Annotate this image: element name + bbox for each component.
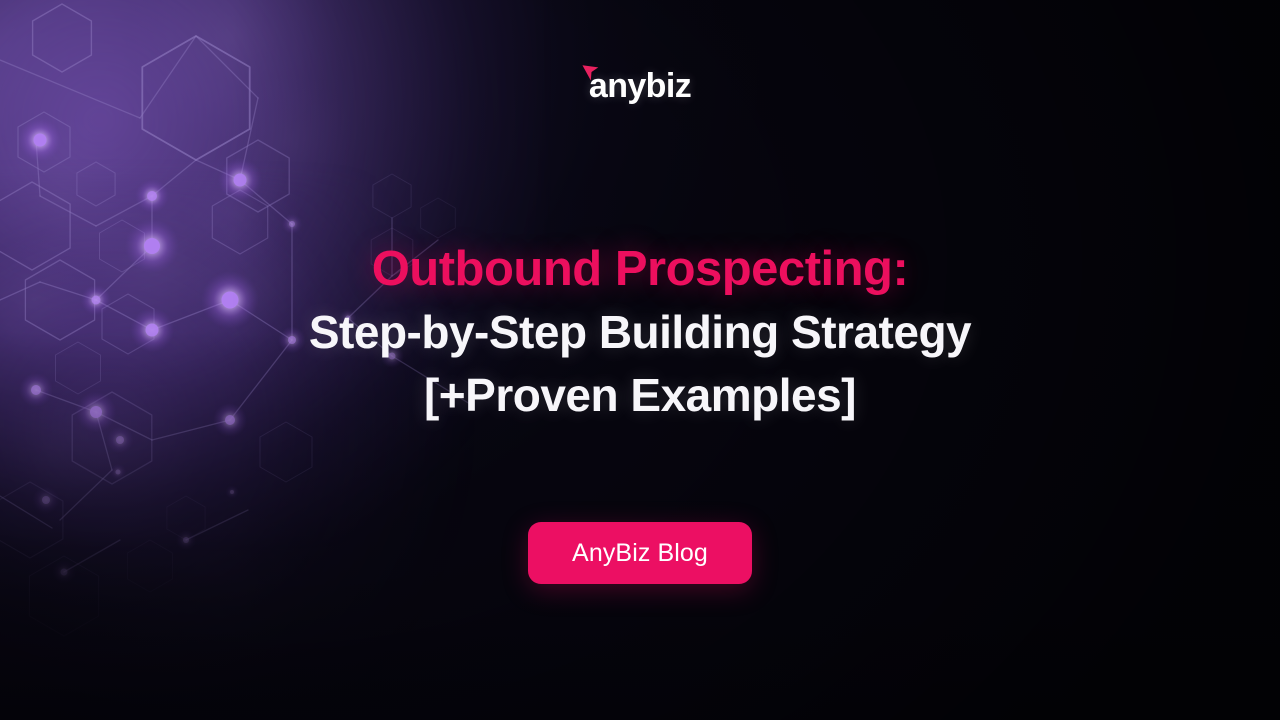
banner-content: anybiz Outbound Prospecting: Step-by-Ste… <box>0 0 1280 720</box>
cursor-arrow-icon <box>581 61 603 85</box>
headline-line-1: Outbound Prospecting: <box>0 238 1280 301</box>
logo-wordmark: anybiz <box>589 69 691 103</box>
promo-banner: anybiz Outbound Prospecting: Step-by-Ste… <box>0 0 1280 720</box>
anybiz-blog-button[interactable]: AnyBiz Blog <box>528 522 752 584</box>
cta-container: AnyBiz Blog <box>528 522 752 584</box>
anybiz-logo[interactable]: anybiz <box>589 63 691 103</box>
headline-line-3: [+Proven Examples] <box>0 364 1280 427</box>
headline-line-2: Step-by-Step Building Strategy <box>0 301 1280 364</box>
headline-block: Outbound Prospecting: Step-by-Step Build… <box>0 238 1280 427</box>
